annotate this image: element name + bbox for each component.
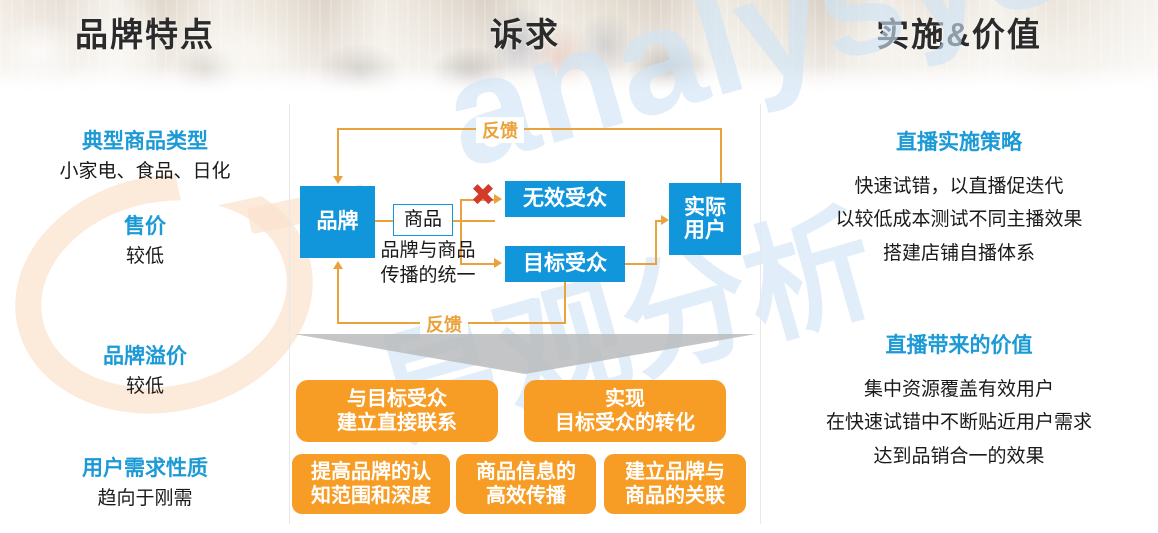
value-line: 搭建店铺自播体系: [760, 237, 1158, 270]
outcome-line2: 知范围和深度: [311, 484, 431, 508]
trait-body: 较低: [0, 245, 290, 270]
trait-heading: 品牌溢价: [0, 344, 290, 370]
value-block-strategy: 直播实施策略 快速试错，以直播促迭代 以较低成本测试不同主播效果 搭建店铺自播体…: [760, 126, 1158, 270]
node-goods: 商品: [393, 204, 453, 236]
trait-body: 小家电、食品、日化: [0, 160, 290, 185]
target-to-actual-line-h1: [625, 263, 657, 265]
value-block-benefits: 直播带来的价值 集中资源覆盖有效用户 在快速试错中不断贴近用户需求 达到品销合一…: [760, 329, 1158, 473]
column-brand-traits: 典型商品类型 小家电、食品、日化 售价 较低 品牌溢价 较低 用户需求性质 趋向…: [0, 96, 290, 533]
feedback-top-line-left: [337, 128, 339, 176]
section-title-implementation-value: 实施&价值: [760, 8, 1158, 56]
brand-to-goods-line: [375, 220, 394, 222]
trait-heading: 典型商品类型: [0, 129, 290, 155]
outcome-line2: 目标受众的转化: [555, 411, 695, 435]
target-to-actual-arrowhead: [661, 215, 669, 225]
unify-note-line2: 传播的统一: [368, 263, 488, 288]
brand-flow-diagram: 反馈 反馈 ✖ 品牌 商品 无效受: [290, 96, 760, 356]
node-actual-user-line2: 用户: [684, 219, 726, 242]
feedback-bottom-line-right: [564, 282, 566, 322]
fork-to-target-arrowhead: [494, 258, 502, 268]
feedback-bottom-arrowhead: [333, 261, 343, 269]
node-invalid-audience: 无效受众: [505, 181, 625, 217]
blocked-x-icon: ✖: [468, 181, 498, 211]
value-line: 在快速试错中不断贴近用户需求: [760, 406, 1158, 439]
outcome-line2: 商品的关联: [625, 484, 725, 508]
feedback-top-line-horizontal: [337, 128, 722, 130]
trait-product-category: 典型商品类型 小家电、食品、日化: [0, 129, 290, 185]
outcome-bottom-1: 提高品牌的认 知范围和深度: [292, 454, 450, 514]
node-target-audience: 目标受众: [505, 246, 625, 282]
trait-body: 较低: [0, 375, 290, 400]
trait-brand-premium: 品牌溢价 较低: [0, 344, 290, 400]
outcome-bottom-2: 商品信息的 高效传播: [456, 454, 596, 514]
unify-note-line1: 品牌与商品: [368, 238, 488, 263]
unify-note: 品牌与商品 传播的统一: [368, 238, 488, 288]
header-photo-band: 品牌特点 诉求 实施&价值: [0, 0, 1158, 96]
slide-root: 品牌特点 诉求 实施&价值 analysys 易观分析 典型商品类型 小家电、食…: [0, 0, 1158, 533]
trait-heading: 用户需求性质: [0, 456, 290, 482]
feedback-top-arrowhead: [333, 176, 343, 184]
value-lines: 快速试错，以直播促迭代 以较低成本测试不同主播效果 搭建店铺自播体系: [760, 170, 1158, 270]
value-heading: 直播实施策略: [760, 126, 1158, 156]
value-line: 集中资源覆盖有效用户: [760, 373, 1158, 406]
section-title-brand-traits: 品牌特点: [0, 8, 290, 56]
value-line: 达到品销合一的效果: [760, 440, 1158, 473]
outcome-line1: 建立品牌与: [625, 460, 725, 484]
trait-body: 趋向于刚需: [0, 487, 290, 512]
target-to-actual-line-v: [655, 220, 657, 265]
outcome-top-2: 实现 目标受众的转化: [524, 380, 726, 442]
feedback-top-line-right: [720, 128, 722, 183]
column-implementation-value: 直播实施策略 快速试错，以直播促迭代 以较低成本测试不同主播效果 搭建店铺自播体…: [760, 96, 1158, 533]
outcome-line1: 与目标受众: [337, 387, 457, 411]
section-title-demand: 诉求: [290, 8, 760, 56]
node-actual-user-line1: 实际: [684, 196, 726, 219]
outcome-line1: 实现: [555, 387, 695, 411]
value-heading: 直播带来的价值: [760, 329, 1158, 359]
trait-user-demand-nature: 用户需求性质 趋向于刚需: [0, 456, 290, 512]
feedback-bottom-label: 反馈: [420, 311, 468, 337]
outcome-line1: 提高品牌的认: [311, 460, 431, 484]
node-brand: 品牌: [300, 186, 375, 258]
outcome-line1: 商品信息的: [476, 460, 576, 484]
trait-heading: 售价: [0, 214, 290, 240]
downward-chevron-icon: [294, 334, 756, 374]
outcome-bottom-3: 建立品牌与 商品的关联: [604, 454, 746, 514]
value-line: 快速试错，以直播促迭代: [760, 170, 1158, 203]
node-actual-user: 实际 用户: [669, 183, 741, 255]
feedback-bottom-line-left: [337, 268, 339, 323]
column-demand: 反馈 反馈 ✖ 品牌 商品 无效受: [290, 96, 760, 533]
value-line: 以较低成本测试不同主播效果: [760, 203, 1158, 236]
outcome-line2: 高效传播: [476, 484, 576, 508]
trait-price: 售价 较低: [0, 214, 290, 270]
header-fade: [0, 66, 1158, 96]
outcome-top-1: 与目标受众 建立直接联系: [296, 380, 498, 442]
feedback-top-label: 反馈: [476, 117, 524, 143]
outcome-line2: 建立直接联系: [337, 411, 457, 435]
value-lines: 集中资源覆盖有效用户 在快速试错中不断贴近用户需求 达到品销合一的效果: [760, 373, 1158, 473]
